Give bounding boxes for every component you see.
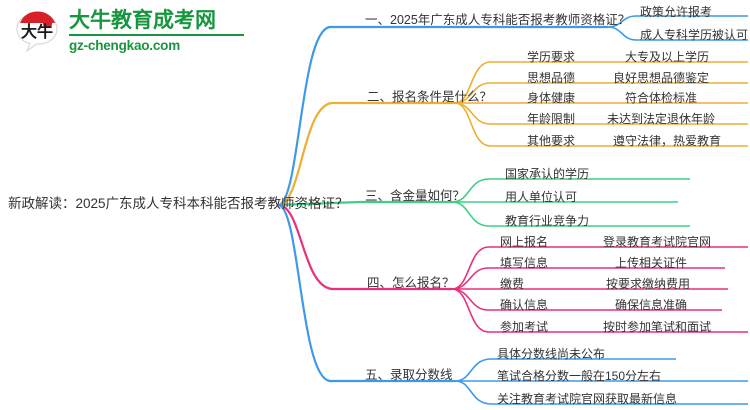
branch-5-child-1[interactable]: 具体分数线尚未公布 (497, 346, 605, 362)
branch-2-child-1-detail[interactable]: 大专及以上学历 (625, 49, 709, 65)
branch-2-child-1[interactable]: 学历要求 (527, 49, 575, 65)
root-node[interactable]: 新政解读：2025广东成人专科本科能否报考教师资格证？ (8, 195, 349, 213)
site-logo: 大牛 大牛教育成考网 gz-chengkao.com (14, 8, 244, 56)
branch-3-child-3[interactable]: 教育行业竞争力 (505, 213, 589, 229)
branch-node-3[interactable]: 三、含金量如何？ (365, 188, 465, 205)
wire-root-branch-5 (278, 205, 360, 381)
mindmap-canvas: 大牛 大牛教育成考网 gz-chengkao.com (0, 0, 750, 410)
branch-2-child-3-detail[interactable]: 符合体检标准 (625, 90, 697, 106)
branch-node-4[interactable]: 四、怎么报名？ (367, 275, 455, 292)
branch-4-child-5[interactable]: 参加考试 (500, 319, 548, 335)
logo-brand-cn: 大牛教育成考网 (69, 8, 244, 34)
branch-4-child-4-detail[interactable]: 确保信息准确 (615, 297, 687, 313)
branch-4-child-1[interactable]: 网上报名 (500, 234, 548, 250)
logo-wordmark: 大牛教育成考网 gz-chengkao.com (69, 8, 244, 54)
branch-4-child-3-detail[interactable]: 按要求缴纳费用 (606, 276, 690, 292)
wire-root-branch-1 (278, 27, 360, 205)
branch-2-child-5-detail[interactable]: 遵守法律，热爱教育 (613, 133, 721, 149)
branch-1-child-1[interactable]: 政策允许报考 (640, 4, 712, 20)
daniu-speech-bubble-logo-icon: 大牛 (14, 10, 62, 54)
branch-node-1[interactable]: 一、2025年广东成人专科能否报考教师资格证？ (365, 12, 630, 29)
branch-1-child-2[interactable]: 成人专科学历被认可 (640, 27, 748, 43)
branch-2-child-5[interactable]: 其他要求 (527, 133, 575, 149)
branch-2-child-4-detail[interactable]: 未达到法定退休年龄 (607, 111, 715, 127)
branch-2-child-4[interactable]: 年龄限制 (527, 111, 575, 127)
branch-4-child-4[interactable]: 确认信息 (500, 297, 548, 313)
branch-2-child-2[interactable]: 思想品德 (527, 70, 575, 86)
branch-3-child-1[interactable]: 国家承认的学历 (505, 166, 589, 182)
branch-2-child-2-detail[interactable]: 良好思想品德鉴定 (613, 70, 709, 86)
branch-2-child-3[interactable]: 身体健康 (527, 90, 575, 106)
wire-branch-4-fork-2 (452, 268, 600, 289)
logo-brand-en: gz-chengkao.com (69, 34, 244, 54)
branch-3-child-2[interactable]: 用人单位认可 (505, 189, 577, 205)
branch-5-child-3[interactable]: 关注教育考试院官网获取最新信息 (497, 391, 677, 407)
wire-root-branch-2 (278, 103, 362, 205)
branch-node-5[interactable]: 五、录取分数线 (365, 367, 453, 384)
branch-4-child-3[interactable]: 缴费 (500, 276, 524, 292)
wire-root-branch-4 (278, 205, 362, 289)
branch-5-child-2[interactable]: 笔试合格分数一般在150分左右 (497, 368, 661, 384)
svg-text:大牛: 大牛 (21, 22, 53, 41)
branch-4-child-2[interactable]: 填写信息 (500, 255, 548, 271)
branch-node-2[interactable]: 二、报名条件是什么？ (367, 89, 492, 106)
branch-4-child-2-detail[interactable]: 上传相关证件 (615, 255, 687, 271)
branch-4-child-1-detail[interactable]: 登录教育考试院官网 (603, 234, 711, 250)
branch-4-child-5-detail[interactable]: 按时参加笔试和面试 (603, 319, 711, 335)
